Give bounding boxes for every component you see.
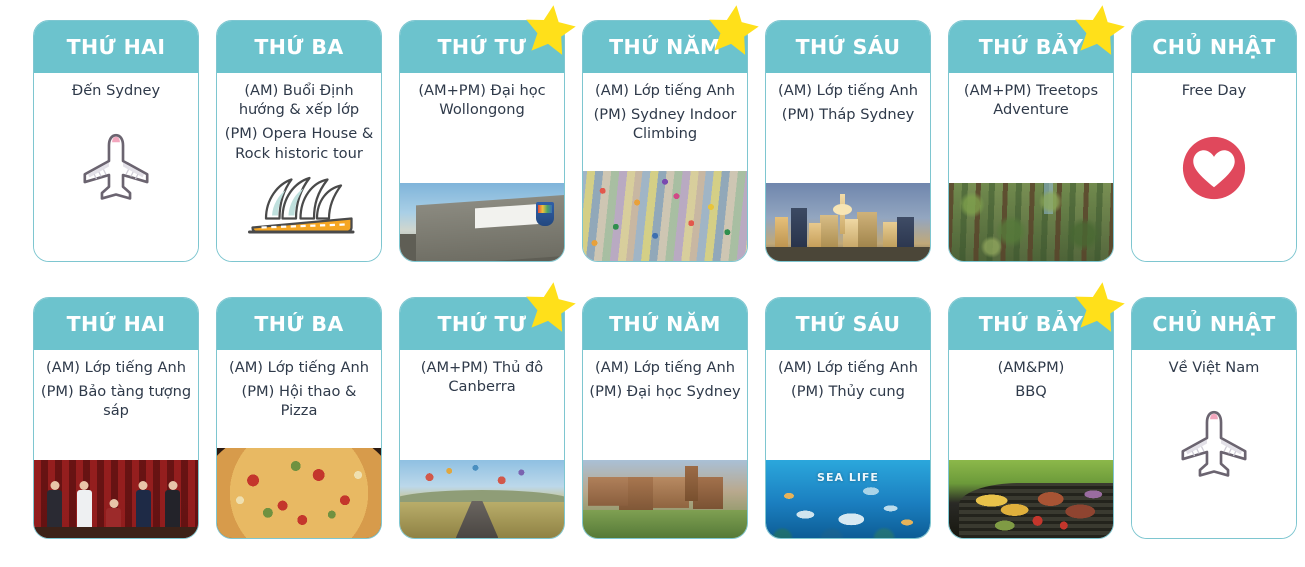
heart-icon (1177, 131, 1251, 209)
day-card-inner: THỨ BẢY (AM&PM)BBQ (949, 298, 1113, 538)
photo-indoor-climbing-wall (583, 171, 747, 261)
activity-list: (AM) Buổi Định hướng & xếp lớp(PM) Opera… (217, 73, 381, 170)
activity-line: Về Việt Nam (1138, 358, 1290, 377)
day-card[interactable]: THỨ BA (AM) Buổi Định hướng & xếp lớp(PM… (216, 20, 382, 262)
activity-line: (PM) Hội thao & Pizza (223, 382, 375, 421)
activity-line: (AM) Lớp tiếng Anh (223, 358, 375, 377)
activity-list: (AM+PM) Đại học Wollongong (400, 73, 564, 126)
day-card[interactable]: THỨ TƯ (AM+PM) Thủ đô Canberra (399, 297, 565, 539)
day-header: THỨ SÁU (766, 21, 930, 73)
day-card-inner: CHỦ NHẬT Về Việt Nam (1132, 298, 1296, 538)
day-card[interactable]: THỨ TƯ (AM+PM) Đại học Wollongong (399, 20, 565, 262)
plane-icon (77, 129, 155, 211)
day-header: THỨ BA (217, 21, 381, 73)
day-card-body: (AM) Lớp tiếng Anh(PM) Đại học Sydney (583, 350, 747, 539)
day-header: THỨ NĂM (583, 21, 747, 73)
day-header: THỨ BẢY (949, 298, 1113, 350)
photo-sea-life-aquarium: SEA LIFE (766, 460, 930, 538)
day-header: THỨ BẢY (949, 21, 1113, 73)
activity-list: (AM+PM) Thủ đô Canberra (400, 350, 564, 403)
day-header: THỨ TƯ (400, 21, 564, 73)
photo-university-of-sydney (583, 460, 747, 538)
activity-list: Đến Sydney (34, 73, 198, 106)
activity-line: (PM) Opera House & Rock historic tour (223, 124, 375, 163)
day-card[interactable]: THỨ BẢY (AM&PM)BBQ (948, 297, 1114, 539)
activity-list: (AM) Lớp tiếng Anh(PM) Bảo tàng tượng sá… (34, 350, 198, 427)
activity-line: (AM+PM) Treetops Adventure (955, 81, 1107, 120)
day-card[interactable]: THỨ BẢY (AM+PM) Treetops Adventure (948, 20, 1114, 262)
day-card-body: Về Việt Nam (1132, 350, 1296, 539)
activity-line: Đến Sydney (40, 81, 192, 100)
photo-university-of-wollongong (400, 183, 564, 261)
day-card[interactable]: THỨ NĂM (AM) Lớp tiếng Anh(PM) Đại học S… (582, 297, 748, 539)
day-card-body: (AM) Lớp tiếng Anh(PM) Bảo tàng tượng sá… (34, 350, 198, 539)
day-card-body: (AM) Buổi Định hướng & xếp lớp(PM) Opera… (217, 73, 381, 262)
itinerary-board: THỨ HAI Đến Sydney THỨ BA (0, 0, 1305, 567)
day-card-inner: THỨ TƯ (AM+PM) Thủ đô Canberra (400, 298, 564, 538)
art-area (1132, 383, 1296, 538)
activity-list: Về Việt Nam (1132, 350, 1296, 383)
photo-wax-museum (34, 460, 198, 538)
day-card-body: (AM+PM) Treetops Adventure (949, 73, 1113, 262)
activity-line: (AM) Lớp tiếng Anh (40, 358, 192, 377)
activity-line: (PM) Đại học Sydney (589, 382, 741, 401)
activity-line: (PM) Tháp Sydney (772, 105, 924, 124)
activity-list: (AM&PM)BBQ (949, 350, 1113, 408)
day-header: THỨ SÁU (766, 298, 930, 350)
day-card-body: (AM+PM) Thủ đô Canberra (400, 350, 564, 539)
day-card-inner: THỨ NĂM (AM) Lớp tiếng Anh(PM) Sydney In… (583, 21, 747, 261)
day-header: CHỦ NHẬT (1132, 298, 1296, 350)
activity-line: (AM) Buổi Định hướng & xếp lớp (223, 81, 375, 120)
week-row: THỨ HAI Đến Sydney THỨ BA (0, 20, 1305, 263)
activity-line: (AM) Lớp tiếng Anh (772, 81, 924, 100)
day-card-inner: THỨ BA (AM) Lớp tiếng Anh(PM) Hội thao &… (217, 298, 381, 538)
day-header: CHỦ NHẬT (1132, 21, 1296, 73)
day-card-body: (AM) Lớp tiếng Anh(PM) Sydney Indoor Cli… (583, 73, 747, 262)
photo-sydney-skyline (766, 183, 930, 261)
opera-house-icon (239, 169, 359, 239)
activity-line: (AM&PM) (955, 358, 1107, 377)
day-card-inner: THỨ TƯ (AM+PM) Đại học Wollongong (400, 21, 564, 261)
photo-treetops-forest (949, 183, 1113, 261)
day-header: THỨ HAI (34, 298, 198, 350)
day-card[interactable]: THỨ HAI Đến Sydney (33, 20, 199, 262)
activity-list: (AM) Lớp tiếng Anh(PM) Thủy cung (766, 350, 930, 408)
day-card-inner: THỨ SÁU (AM) Lớp tiếng Anh(PM) Thủy cung… (766, 298, 930, 538)
day-card-inner: THỨ BẢY (AM+PM) Treetops Adventure (949, 21, 1113, 261)
activity-list: Free Day (1132, 73, 1296, 106)
day-card[interactable]: CHỦ NHẬT Về Việt Nam (1131, 297, 1297, 539)
day-card[interactable]: THỨ SÁU (AM) Lớp tiếng Anh(PM) Thủy cung… (765, 297, 931, 539)
day-header: THỨ NĂM (583, 298, 747, 350)
day-card-body: (AM+PM) Đại học Wollongong (400, 73, 564, 262)
plane-icon (1175, 406, 1253, 488)
day-card-inner: CHỦ NHẬT Free Day (1132, 21, 1296, 261)
activity-line: (AM+PM) Đại học Wollongong (406, 81, 558, 120)
photo-pizza (217, 448, 381, 538)
activity-list: (AM) Lớp tiếng Anh(PM) Hội thao & Pizza (217, 350, 381, 427)
activity-line: Free Day (1138, 81, 1290, 100)
activity-line: (AM) Lớp tiếng Anh (589, 358, 741, 377)
day-header: THỨ TƯ (400, 298, 564, 350)
art-area (1132, 106, 1296, 261)
art-area (217, 169, 381, 261)
day-card[interactable]: THỨ SÁU (AM) Lớp tiếng Anh(PM) Tháp Sydn… (765, 20, 931, 262)
day-card-inner: THỨ HAI Đến Sydney (34, 21, 198, 261)
day-card-body: (AM) Lớp tiếng Anh(PM) Tháp Sydney (766, 73, 930, 262)
day-card[interactable]: THỨ BA (AM) Lớp tiếng Anh(PM) Hội thao &… (216, 297, 382, 539)
activity-line: (PM) Thủy cung (772, 382, 924, 401)
week-row: THỨ HAI (AM) Lớp tiếng Anh(PM) Bảo tàng … (0, 297, 1305, 540)
activity-list: (AM+PM) Treetops Adventure (949, 73, 1113, 126)
activity-line: (AM+PM) Thủ đô Canberra (406, 358, 558, 397)
art-area (34, 106, 198, 261)
day-card-body: (AM&PM)BBQ (949, 350, 1113, 539)
activity-list: (AM) Lớp tiếng Anh(PM) Tháp Sydney (766, 73, 930, 131)
day-card-inner: THỨ NĂM (AM) Lớp tiếng Anh(PM) Đại học S… (583, 298, 747, 538)
activity-line: (AM) Lớp tiếng Anh (589, 81, 741, 100)
activity-line: (PM) Bảo tàng tượng sáp (40, 382, 192, 421)
day-card[interactable]: CHỦ NHẬT Free Day (1131, 20, 1297, 262)
photo-bbq-grill (949, 460, 1113, 538)
sealife-logo-text: SEA LIFE (817, 471, 879, 484)
day-header: THỨ BA (217, 298, 381, 350)
activity-list: (AM) Lớp tiếng Anh(PM) Đại học Sydney (583, 350, 747, 408)
day-card[interactable]: THỨ NĂM (AM) Lớp tiếng Anh(PM) Sydney In… (582, 20, 748, 262)
day-card-body: (AM) Lớp tiếng Anh(PM) Thủy cung SEA LIF… (766, 350, 930, 539)
day-card-body: Đến Sydney (34, 73, 198, 262)
day-card-inner: THỨ SÁU (AM) Lớp tiếng Anh(PM) Tháp Sydn… (766, 21, 930, 261)
activity-list: (AM) Lớp tiếng Anh(PM) Sydney Indoor Cli… (583, 73, 747, 150)
activity-line: BBQ (955, 382, 1107, 401)
day-card-inner: THỨ BA (AM) Buổi Định hướng & xếp lớp(PM… (217, 21, 381, 261)
day-card-inner: THỨ HAI (AM) Lớp tiếng Anh(PM) Bảo tàng … (34, 298, 198, 538)
day-header: THỨ HAI (34, 21, 198, 73)
day-card-body: (AM) Lớp tiếng Anh(PM) Hội thao & Pizza (217, 350, 381, 539)
day-card-body: Free Day (1132, 73, 1296, 262)
activity-line: (AM) Lớp tiếng Anh (772, 358, 924, 377)
photo-canberra-countryside (400, 460, 564, 538)
activity-line: (PM) Sydney Indoor Climbing (589, 105, 741, 144)
day-card[interactable]: THỨ HAI (AM) Lớp tiếng Anh(PM) Bảo tàng … (33, 297, 199, 539)
